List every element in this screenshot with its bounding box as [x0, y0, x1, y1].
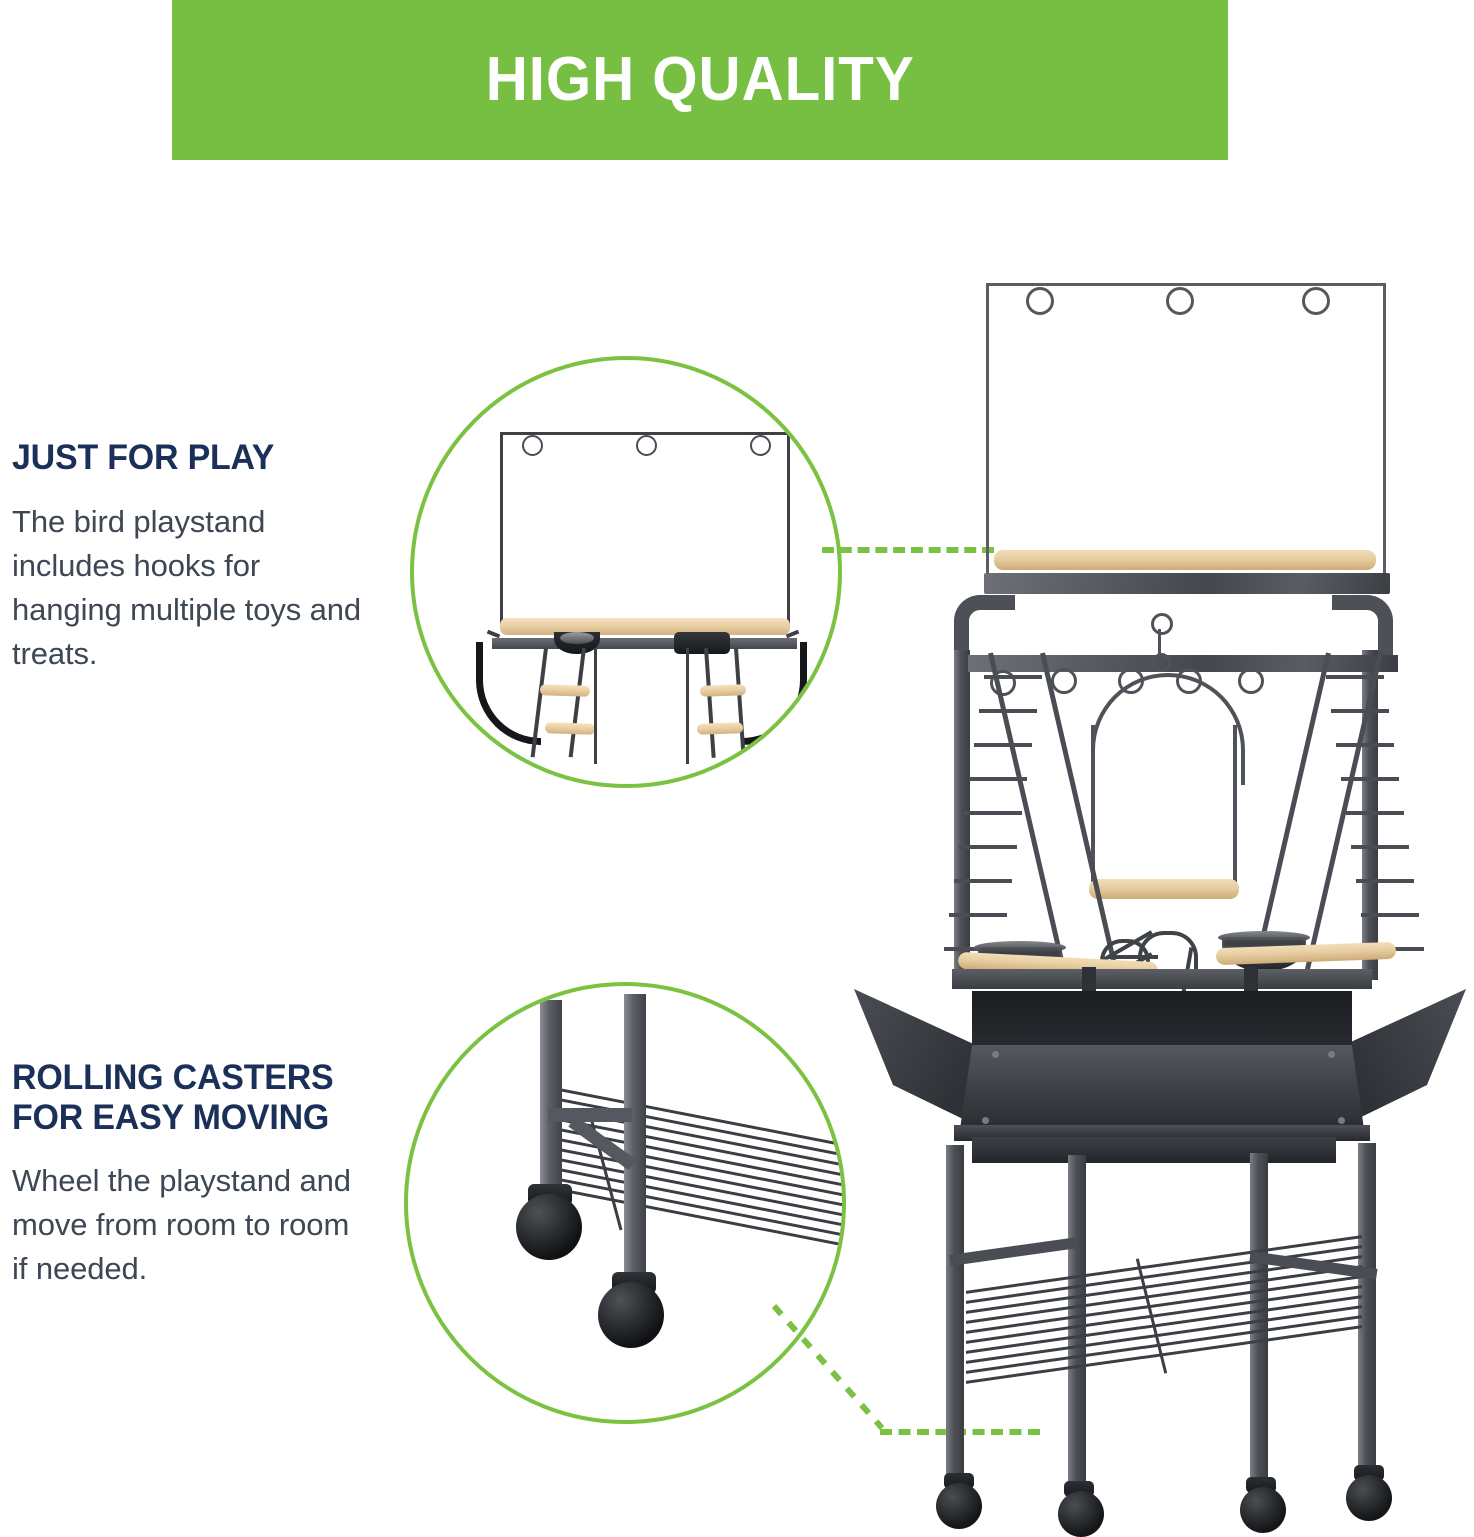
swing-chain	[1158, 629, 1161, 655]
back-panel-top-edge	[986, 283, 1386, 286]
caster-wheel	[1058, 1491, 1104, 1537]
caster-wheel	[1240, 1487, 1286, 1533]
feature-title-rolling-casters: ROLLING CASTERS FOR EASY MOVING	[12, 1058, 361, 1137]
hanging-hook-icon	[1166, 287, 1194, 315]
feature-title-just-for-play: JUST FOR PLAY	[12, 438, 361, 478]
caster-wheel	[598, 1282, 664, 1348]
callout-circle-top	[410, 356, 842, 788]
back-panel-left-edge	[986, 283, 989, 583]
hanging-hook-icon	[1302, 287, 1330, 315]
infographic-canvas: HIGH QUALITY JUST FOR PLAY The bird play…	[0, 0, 1474, 1500]
screw	[982, 1117, 989, 1124]
product-illustration-bird-playstand	[846, 255, 1474, 1500]
tray-inner-back	[972, 991, 1352, 1053]
hanging-hook-icon	[1026, 287, 1054, 315]
callout-top-artwork	[414, 360, 838, 784]
ladder-left	[966, 653, 1116, 983]
header-banner: HIGH QUALITY	[172, 0, 1228, 160]
seed-catcher-tray	[854, 981, 1466, 1153]
ladder-rung-wood	[700, 684, 746, 697]
screw	[1338, 1117, 1345, 1124]
back-panel-right-edge	[1383, 283, 1386, 583]
feature-block-just-for-play: JUST FOR PLAY The bird playstand include…	[12, 438, 372, 676]
feature-block-rolling-casters: ROLLING CASTERS FOR EASY MOVING Wheel th…	[12, 1058, 372, 1291]
ladder-right	[414, 360, 838, 784]
ladder-rail	[734, 648, 746, 758]
leg-post-center	[624, 994, 646, 1286]
leg-post-left	[540, 1000, 562, 1198]
bottom-wire-shelf	[954, 1257, 1374, 1367]
cross-brace-horizontal	[548, 1108, 632, 1122]
feature-body-just-for-play: The bird playstand includes hooks for ha…	[12, 500, 372, 676]
tray-front-face	[960, 1045, 1364, 1129]
caster-wheel	[1346, 1475, 1392, 1521]
screw	[1328, 1051, 1335, 1058]
caster-wheel	[936, 1483, 982, 1529]
callout-bottom-artwork	[408, 986, 842, 1420]
banner-title: HIGH QUALITY	[486, 49, 915, 111]
ladder-rung-wood	[697, 722, 743, 735]
top-rail-bar	[984, 573, 1390, 594]
screw	[992, 1051, 999, 1058]
top-wood-perch	[994, 550, 1376, 570]
swing-chain-link	[1152, 653, 1171, 672]
caster-wheel	[516, 1194, 582, 1260]
callout-circle-bottom	[404, 982, 846, 1424]
ladder-rail	[704, 648, 716, 758]
feature-body-rolling-casters: Wheel the playstand and move from room t…	[12, 1159, 372, 1291]
swing-top-ring	[1151, 613, 1173, 635]
pull-out-drawer	[972, 1137, 1336, 1163]
support-rod	[686, 648, 689, 764]
